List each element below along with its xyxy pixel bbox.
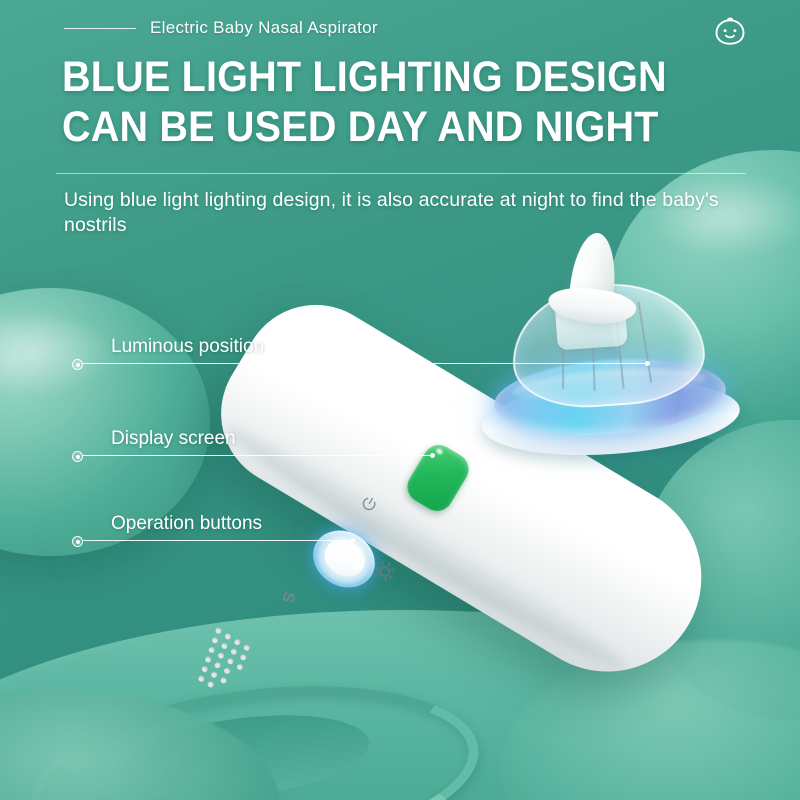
callout-display-screen: Display screen (83, 455, 433, 456)
tagline-dash (64, 28, 136, 29)
subtitle-text: Using blue light lighting design, it is … (64, 188, 744, 239)
green-display-screen (401, 439, 474, 517)
vent-dot (207, 680, 215, 688)
vent-dot (214, 627, 222, 635)
vent-dot (239, 653, 247, 661)
cup-inner-tube (554, 294, 627, 351)
callout-end-dot (430, 453, 435, 458)
nozzle-skirt (547, 284, 638, 327)
callout-leader-line (83, 363, 648, 364)
vent-dot (224, 632, 232, 640)
brightness-icon (367, 553, 403, 589)
vent-dot (226, 657, 234, 665)
vent-dot (201, 665, 209, 673)
callout-bullet (72, 451, 83, 462)
vent-dot (197, 675, 205, 683)
vent-dot (217, 651, 225, 659)
vent-dot (230, 647, 238, 655)
callout-end-dot (645, 361, 650, 366)
device-top-shelf (480, 373, 742, 463)
callout-luminous-position: Luminous position (83, 363, 648, 364)
vent-dot (223, 667, 231, 675)
callout-end-dot (350, 538, 355, 543)
blue-led-glow-ring (492, 352, 729, 442)
callout-bullet (72, 536, 83, 547)
vent-dot (210, 671, 218, 679)
page-title: BLUE LIGHT LIGHTING DESIGN CAN BE USED D… (62, 52, 762, 153)
vent-dot (236, 663, 244, 671)
vent-dot (233, 638, 241, 646)
callout-label: Operation buttons (111, 513, 262, 535)
operation-button (303, 519, 386, 598)
background-sphere-right-mid (640, 420, 800, 720)
headline-line-1: BLUE LIGHT LIGHTING DESIGN (62, 52, 706, 102)
vent-dot (214, 661, 222, 669)
speed-marking-s: S (277, 590, 297, 605)
callout-label: Luminous position (111, 336, 264, 358)
vent-dot (208, 646, 216, 654)
headline-line-2: CAN BE USED DAY AND NIGHT (62, 102, 706, 152)
power-icon (357, 492, 382, 517)
tagline-text: Electric Baby Nasal Aspirator (150, 18, 378, 38)
vent-dot (220, 642, 228, 650)
vent-dot (204, 655, 212, 663)
vent-dot (243, 644, 251, 652)
product-feature-page: Electric Baby Nasal Aspirator BLUE LIGHT… (0, 0, 800, 800)
baby-face-icon (712, 14, 748, 50)
nozzle-cone (568, 231, 619, 309)
callout-bullet (72, 359, 83, 370)
vent-dot (220, 676, 228, 684)
callout-leader-line (83, 455, 433, 456)
callout-operation-buttons: Operation buttons (83, 540, 353, 541)
callout-label: Display screen (111, 428, 236, 450)
tagline-row: Electric Baby Nasal Aspirator (64, 18, 378, 38)
background-sphere-bottom-right (500, 640, 800, 800)
silicone-nozzle-tip (544, 228, 645, 329)
callout-leader-line (83, 540, 353, 541)
vent-dot (211, 636, 219, 644)
transparent-collection-cup (508, 277, 708, 412)
device-body (194, 278, 737, 707)
header-divider (56, 173, 746, 174)
